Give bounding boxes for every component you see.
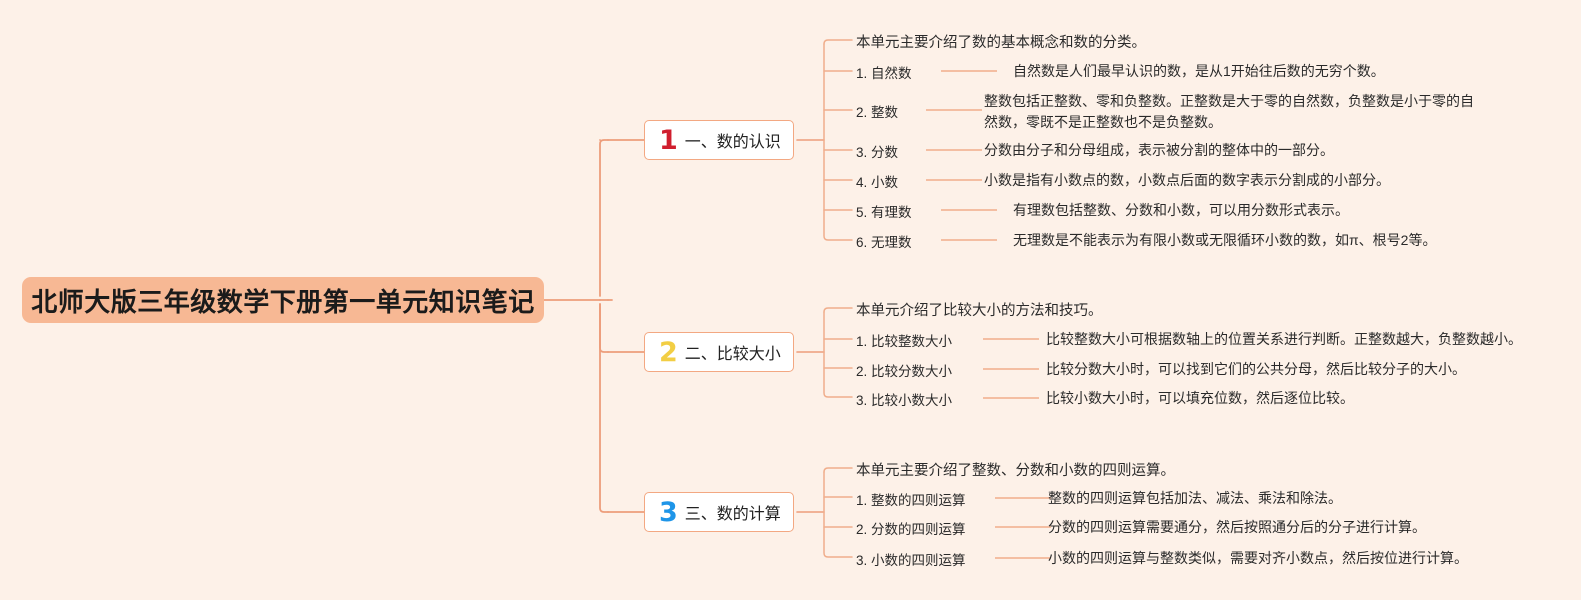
branch-summary-1: 本单元主要介绍了数的基本概念和数的分类。: [856, 31, 1146, 52]
sub-label-2-3: 3. 比较小数大小: [856, 389, 952, 409]
sub-desc-1-5: 有理数包括整数、分数和小数，可以用分数形式表示。: [1013, 200, 1349, 221]
sub-dash-1-1: [941, 70, 997, 72]
sub-desc-1-4: 小数是指有小数点的数，小数点后面的数字表示分割成的小部分。: [984, 170, 1390, 191]
sub-label-1-3: 3. 分数: [856, 141, 898, 161]
branch-node-3[interactable]: 3 三、数的计算: [644, 492, 794, 532]
root-title: 北师大版三年级数学下册第一单元知识笔记: [31, 282, 535, 319]
sub-desc-3-3: 小数的四则运算与整数类似，需要对齐小数点，然后按位进行计算。: [1048, 548, 1468, 569]
branch-label-3: 三、数的计算: [685, 500, 781, 524]
sub-dash-3-2: [995, 526, 1051, 528]
branch-node-1[interactable]: 1 一、数的认识: [644, 120, 794, 160]
sub-dash-1-4: [926, 179, 982, 181]
sub-desc-1-1: 自然数是人们最早认识的数，是从1开始往后数的无穷个数。: [1013, 61, 1385, 82]
sub-desc-1-2: 整数包括正整数、零和负整数。正整数是大于零的自然数，负整数是小于零的自然数，零既…: [984, 91, 1486, 133]
sub-desc-2-2: 比较分数大小时，可以找到它们的公共分母，然后比较分子的大小。: [1046, 359, 1466, 380]
sub-label-3-1: 1. 整数的四则运算: [856, 489, 966, 509]
sub-label-1-2: 2. 整数: [856, 101, 898, 121]
sub-label-2-1: 1. 比较整数大小: [856, 330, 952, 350]
branch-summary-2: 本单元介绍了比较大小的方法和技巧。: [856, 299, 1103, 320]
sub-dash-3-1: [995, 497, 1051, 499]
sub-dash-2-3: [983, 397, 1039, 399]
sub-label-3-2: 2. 分数的四则运算: [856, 518, 966, 538]
branch-number-2: 2: [659, 339, 678, 366]
branch-label-2: 二、比较大小: [685, 340, 781, 364]
sub-dash-3-3: [995, 557, 1051, 559]
sub-desc-1-6: 无理数是不能表示为有限小数或无限循环小数的数，如π、根号2等。: [1013, 230, 1436, 251]
sub-desc-3-1: 整数的四则运算包括加法、减法、乘法和除法。: [1048, 488, 1342, 509]
branch-number-3: 3: [659, 499, 678, 526]
branch-label-1: 一、数的认识: [685, 128, 781, 152]
sub-label-1-5: 5. 有理数: [856, 201, 912, 221]
sub-label-3-3: 3. 小数的四则运算: [856, 549, 966, 569]
sub-dash-1-6: [941, 239, 997, 241]
branch-summary-3: 本单元主要介绍了整数、分数和小数的四则运算。: [856, 459, 1175, 480]
sub-desc-1-3: 分数由分子和分母组成，表示被分割的整体中的一部分。: [984, 140, 1334, 161]
sub-label-1-6: 6. 无理数: [856, 231, 912, 251]
sub-label-2-2: 2. 比较分数大小: [856, 360, 952, 380]
sub-dash-1-5: [941, 209, 997, 211]
branch-node-2[interactable]: 2 二、比较大小: [644, 332, 794, 372]
sub-desc-3-2: 分数的四则运算需要通分，然后按照通分后的分子进行计算。: [1048, 517, 1426, 538]
branch-number-1: 1: [659, 127, 678, 154]
sub-label-1-1: 1. 自然数: [856, 62, 912, 82]
root-node[interactable]: 北师大版三年级数学下册第一单元知识笔记: [22, 277, 544, 323]
sub-desc-2-1: 比较整数大小可根据数轴上的位置关系进行判断。正整数越大，负整数越小。: [1046, 329, 1522, 350]
sub-label-1-4: 4. 小数: [856, 171, 898, 191]
sub-dash-2-2: [983, 368, 1039, 370]
mindmap-canvas: 北师大版三年级数学下册第一单元知识笔记 1 一、数的认识 本单元主要介绍了数的基…: [0, 0, 1581, 600]
sub-dash-1-2: [926, 109, 982, 111]
sub-dash-1-3: [926, 149, 982, 151]
sub-desc-2-3: 比较小数大小时，可以填充位数，然后逐位比较。: [1046, 388, 1354, 409]
sub-dash-2-1: [983, 338, 1039, 340]
